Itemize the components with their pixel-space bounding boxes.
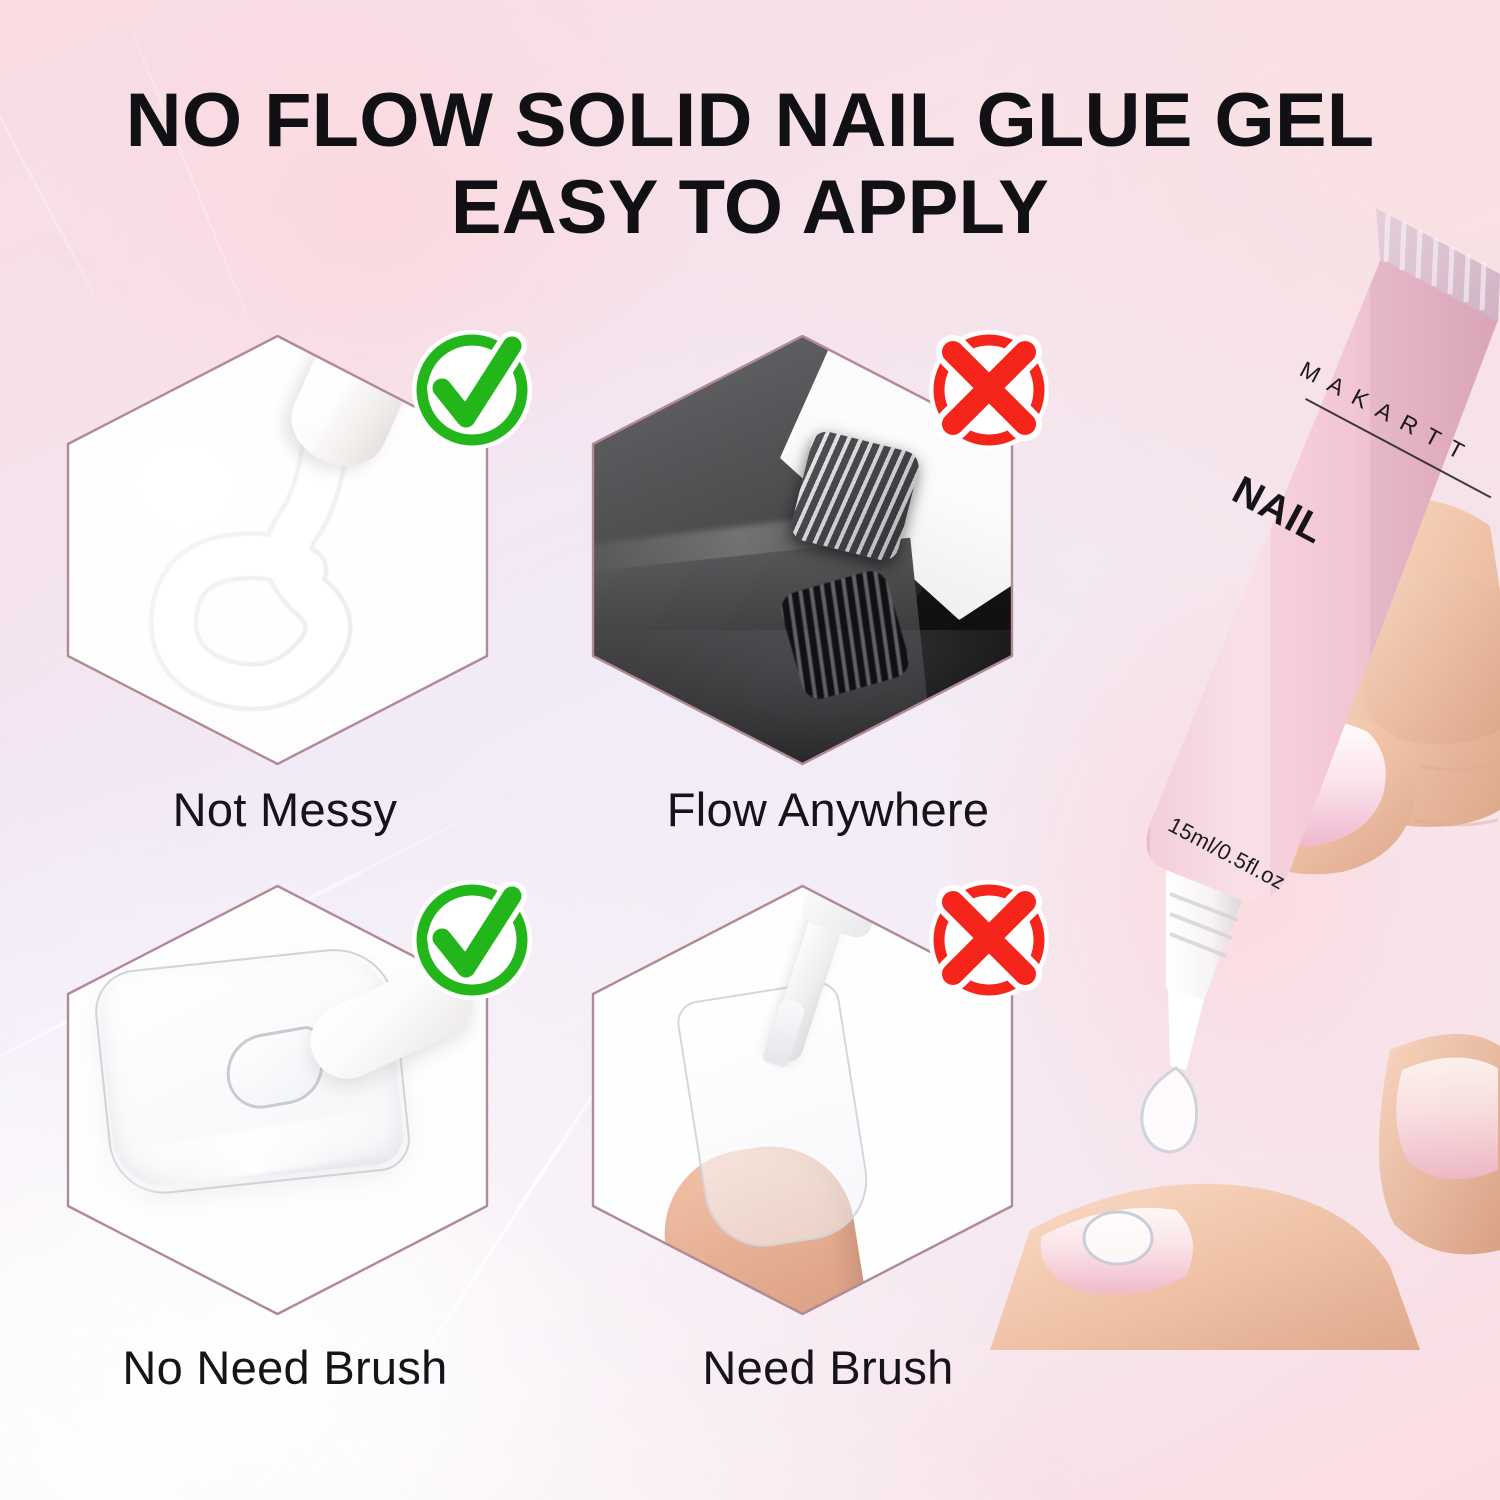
cell-caption: No Need Brush — [40, 1340, 530, 1395]
promo-image-canvas: NO FLOW SOLID NAIL GLUE GEL EASY TO APPL… — [0, 0, 1500, 1500]
gel-drop-icon — [1142, 1068, 1197, 1152]
gel-bead-icon — [1084, 1212, 1152, 1264]
comparison-cell-need-brush: Need Brush — [565, 880, 1055, 1350]
check-badge-icon — [408, 326, 536, 454]
check-badge-icon — [408, 876, 536, 1004]
comparison-cell-flow-anywhere: Flow Anywhere — [565, 330, 1055, 800]
comparison-cell-no-need-brush: No Need Brush — [40, 880, 530, 1350]
headline: NO FLOW SOLID NAIL GLUE GEL EASY TO APPL… — [0, 86, 1500, 243]
product-photo: MAKARTT NAIL 15ml/0.5fl.oz — [990, 170, 1500, 1350]
cell-caption: Not Messy — [40, 782, 530, 837]
comparison-cell-not-messy: Not Messy — [40, 330, 530, 800]
headline-line-1: NO FLOW SOLID NAIL GLUE GEL — [26, 86, 1474, 157]
comparison-grid: Not Messy — [40, 330, 1060, 1440]
hand-illustration — [990, 170, 1500, 1350]
headline-line-2: EASY TO APPLY — [40, 173, 1460, 244]
